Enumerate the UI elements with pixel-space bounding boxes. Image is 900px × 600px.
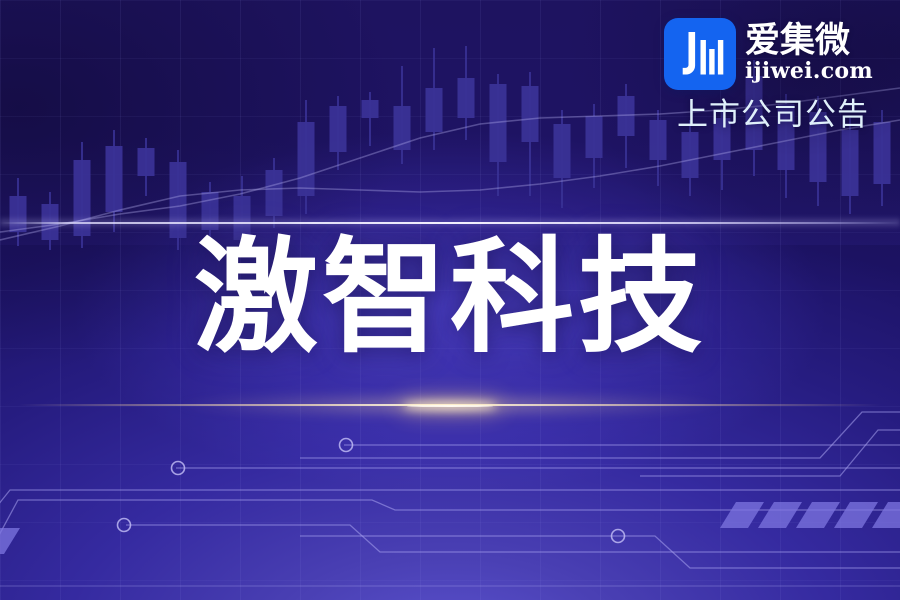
candle-body [266,170,283,216]
candle-body [362,100,379,118]
candle-body [554,124,571,178]
announcement-banner: 激智科技 [0,0,900,600]
brand-wordmark: 爱集微 ijiwei.com [745,24,873,83]
candle-body [682,132,699,178]
page-title: 激智科技 [0,232,900,366]
candle-body [138,148,155,176]
candle-body [10,196,27,232]
candle-body [170,162,187,238]
banner-subtitle: 上市公司公告 [664,100,882,131]
brand-logo-row[interactable]: 爱集微 ijiwei.com [664,18,882,90]
ma-line [0,120,900,240]
candle-body [74,160,91,236]
candle-body [458,78,475,118]
candle-body [522,86,539,142]
candle-body [426,88,443,132]
candle-body [106,146,123,212]
brand-url: ijiwei.com [745,60,873,83]
candle-body [874,122,891,184]
candle-body [298,122,315,196]
bar-chart-j-logo-icon[interactable] [664,18,736,90]
candle-body [586,116,603,158]
brand-name-cn: 爱集微 [745,24,873,59]
candle-body [330,106,347,152]
candle-body [202,192,219,230]
brand-logo-block[interactable]: 爱集微 ijiwei.com 上市公司公告 [664,18,882,131]
candle-body [842,130,859,196]
